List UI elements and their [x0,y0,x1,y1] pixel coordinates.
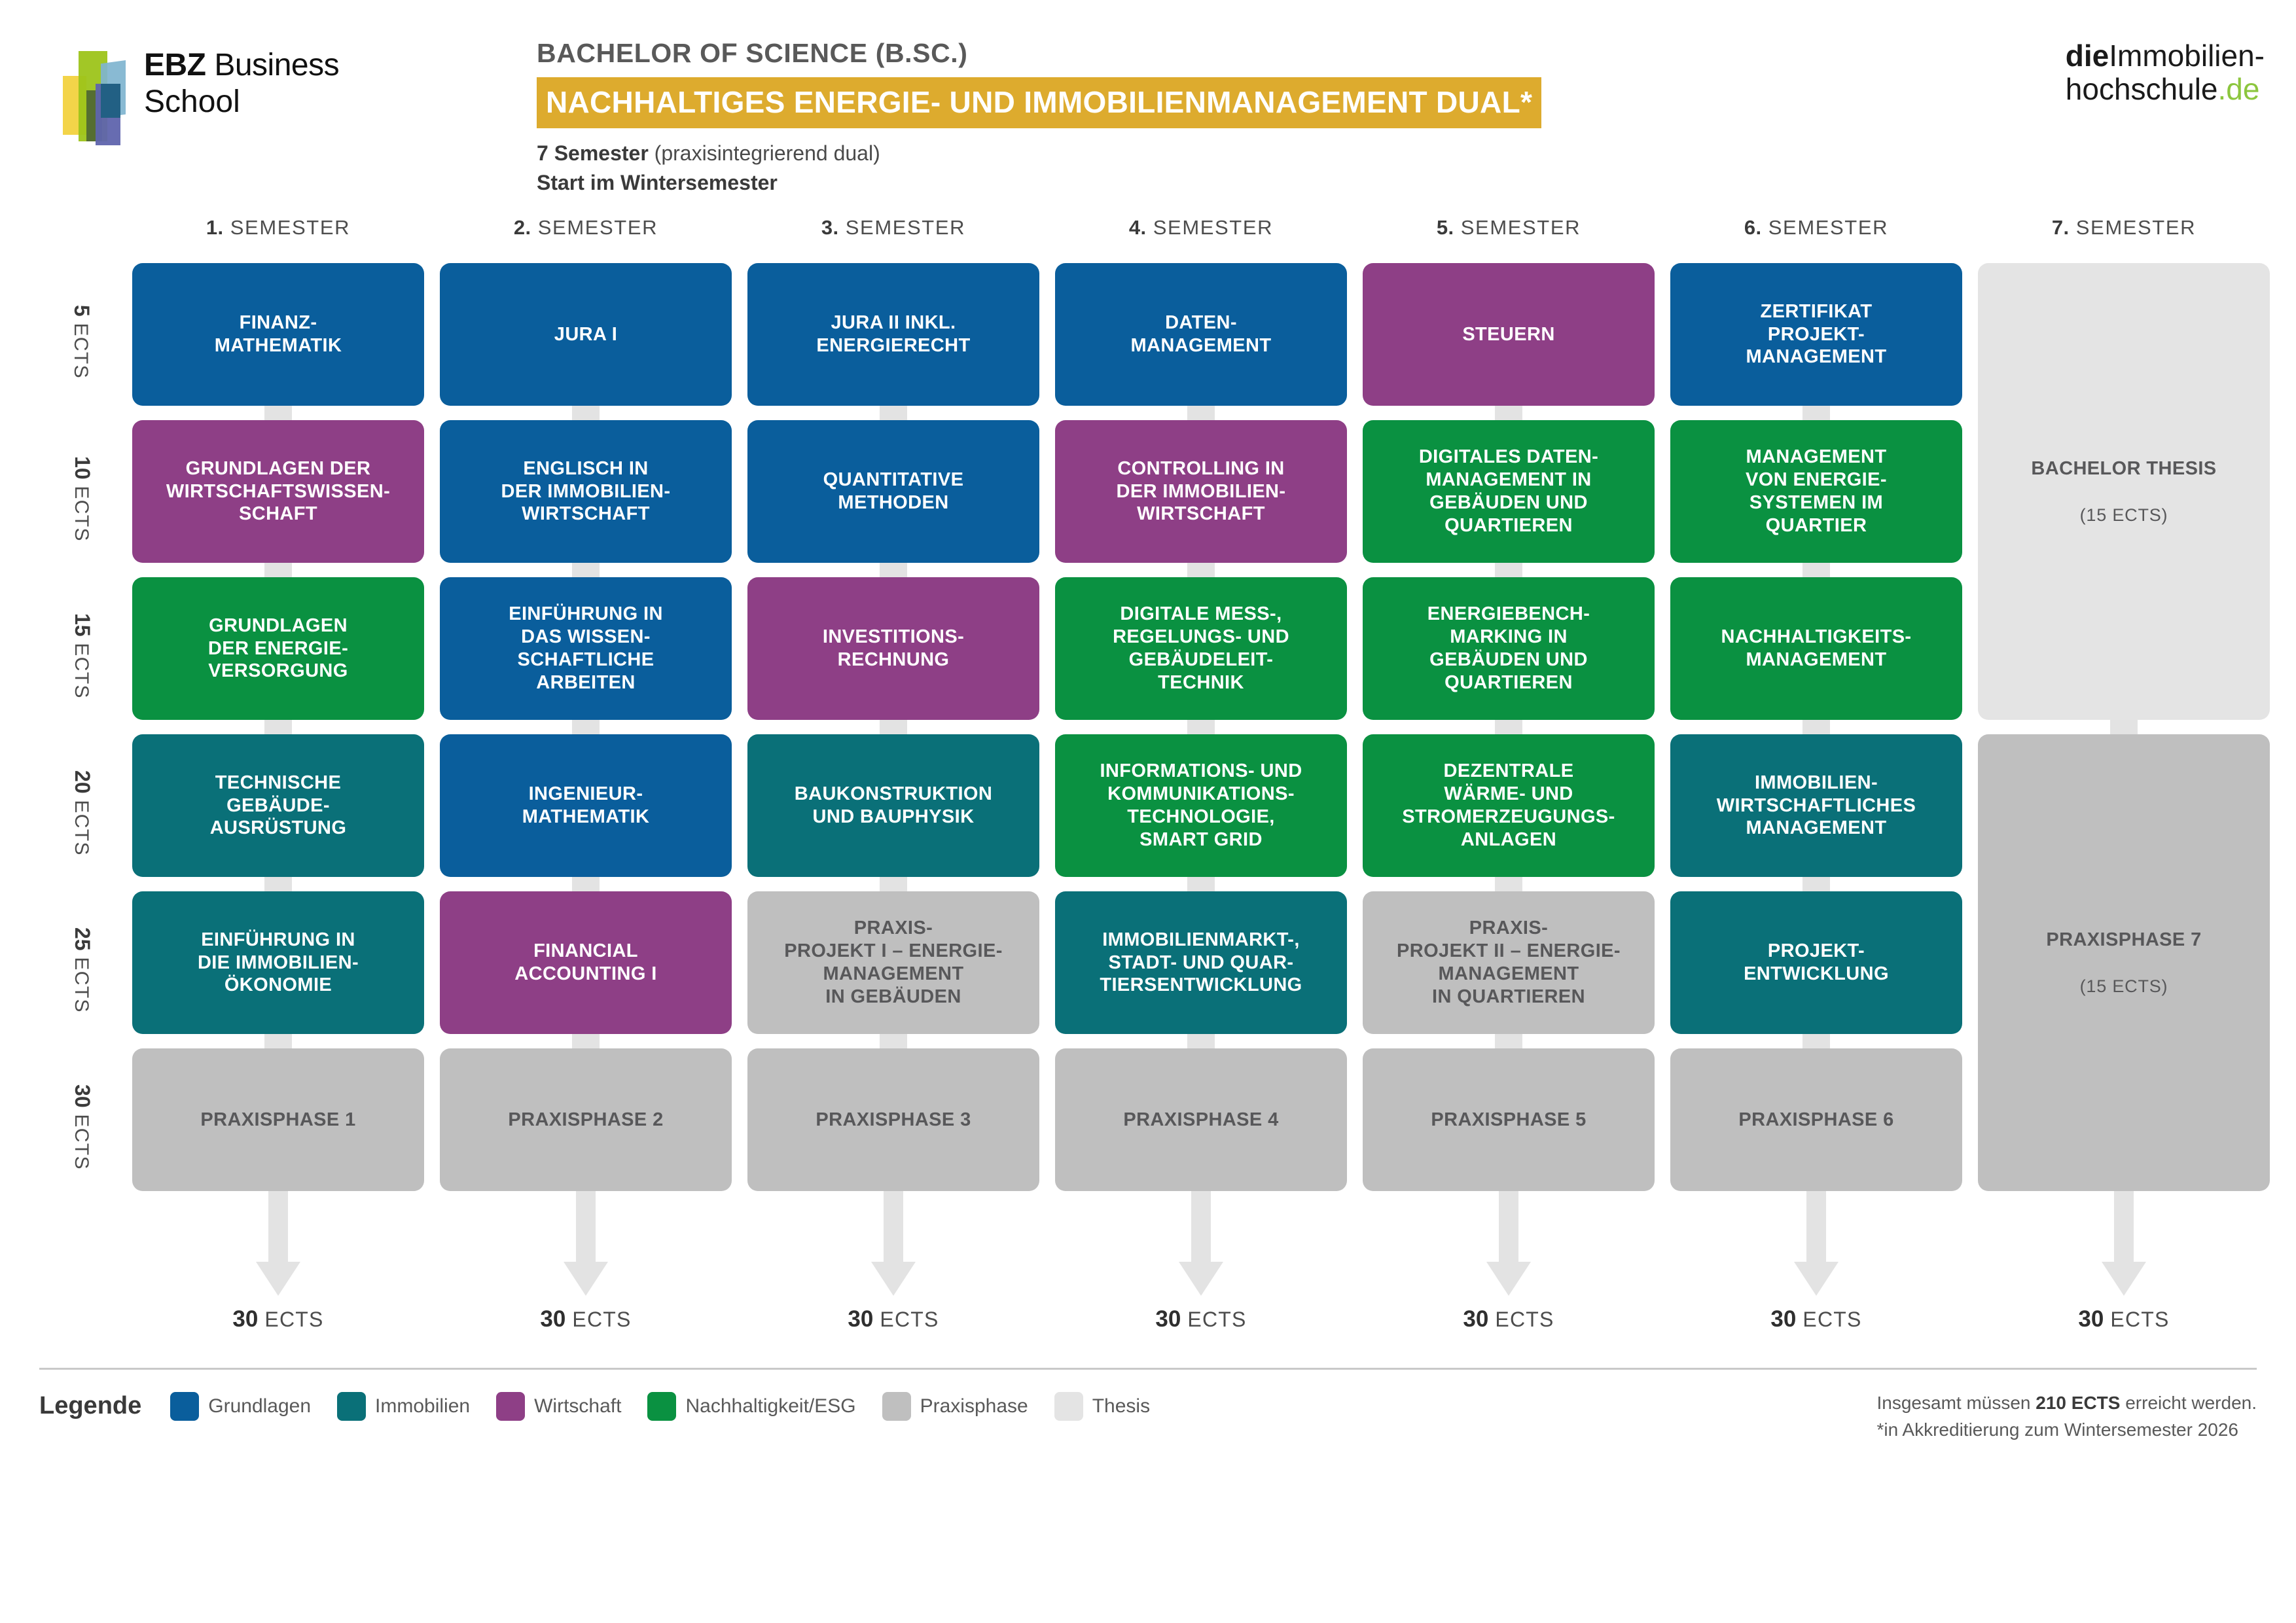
semester-number: 7. [2052,216,2070,239]
module-label: MANAGEMENT VON ENERGIE- SYSTEMEN IM QUAR… [1746,446,1887,537]
ects-tick-label: 25 ECTS [70,927,94,1013]
legend-item-nachhaltigkeit: Nachhaltigkeit/ESG [647,1392,855,1421]
module-label: ENERGIEBENCH- MARKING IN GEBÄUDEN UND QU… [1427,603,1590,694]
duration-mode: (praxisintegrierend dual) [649,141,880,165]
module-box[interactable]: BAUKONSTRUKTION UND BAUPHYSIK [747,734,1039,877]
module-box[interactable]: GRUNDLAGEN DER ENERGIE- VERSORGUNG [132,577,424,720]
module-box[interactable]: BACHELOR THESIS(15 ECTS) [1978,263,2270,720]
semester-header-5: 5. SEMESTER [1363,216,1655,263]
semester-column-5: STEUERNDIGITALES DATEN- MANAGEMENT IN GE… [1363,263,1655,1330]
semester-total-ects: 30 ECTS [1670,1306,1962,1332]
ebz-business-school-logo: EBZ Business School [58,47,339,139]
legend-label: Immobilien [375,1395,470,1418]
ects-tick-5: 5 ECTS [39,263,124,420]
module-label: JURA I [554,323,617,346]
ects-tick-label: 15 ECTS [70,613,94,699]
down-arrow-icon [1499,1186,1518,1263]
down-arrow-icon [268,1186,288,1263]
semester-column-4: DATEN- MANAGEMENTCONTROLLING IN DER IMMO… [1055,263,1347,1330]
ects-axis: 5 ECTS10 ECTS15 ECTS20 ECTS25 ECTS30 ECT… [39,263,124,1179]
module-box[interactable]: DATEN- MANAGEMENT [1055,263,1347,406]
module-label: PRAXISPHASE 3 [816,1109,971,1132]
module-label: PRAXISPHASE 6 [1738,1109,1893,1132]
module-box[interactable]: EINFÜHRUNG IN DAS WISSEN- SCHAFTLICHE AR… [440,577,732,720]
legend-label: Wirtschaft [534,1395,621,1418]
semester-total-arrow-zone: 30 ECTS [132,1191,424,1315]
program-details: 7 Semester (praxisintegrierend dual) Sta… [537,139,1541,198]
module-box[interactable]: PRAXISPHASE 3 [747,1048,1039,1191]
semester-number: 1. [206,216,224,239]
note-post: erreicht werden. [2120,1393,2257,1413]
semester-header-row: 1. SEMESTER2. SEMESTER3. SEMESTER4. SEME… [39,216,2278,263]
semester-header-4: 4. SEMESTER [1055,216,1347,263]
module-box[interactable]: PROJEKT- ENTWICKLUNG [1670,891,1962,1034]
module-label: EINFÜHRUNG IN DIE IMMOBILIEN- ÖKONOMIE [198,929,359,997]
module-label: TECHNISCHE GEBÄUDE- AUSRÜSTUNG [210,772,347,840]
module-label: IMMOBILIENMARKT-, STADT- UND QUAR- TIERS… [1100,929,1302,997]
module-box[interactable]: IMMOBILIEN- WIRTSCHAFTLICHES MANAGEMENT [1670,734,1962,877]
module-box[interactable]: DIGITALE MESS-, REGELUNGS- UND GEBÄUDELE… [1055,577,1347,720]
module-label: FINANZ- MATHEMATIK [215,312,342,357]
module-box[interactable]: QUANTITATIVE METHODEN [747,420,1039,563]
module-box[interactable]: FINANCIAL ACCOUNTING I [440,891,732,1034]
legend-item-immobilien: Immobilien [337,1392,470,1421]
module-label: PRAXISPHASE 4 [1123,1109,1278,1132]
module-box[interactable]: PRAXIS- PROJEKT I – ENERGIE- MANAGEMENT … [747,891,1039,1034]
legend-swatch-grundlagen [170,1392,199,1421]
module-box[interactable]: PRAXISPHASE 7(15 ECTS) [1978,734,2270,1191]
semester-column-2: JURA IENGLISCH IN DER IMMOBILIEN- WIRTSC… [440,263,732,1330]
note-accreditation: *in Akkreditierung zum Wintersemester 20… [1877,1416,2257,1443]
module-box[interactable]: PRAXISPHASE 6 [1670,1048,1962,1191]
module-label: JURA II INKL. ENERGIERECHT [816,312,970,357]
legend-label: Praxisphase [920,1395,1028,1418]
module-label: PRAXISPHASE 1 [200,1109,355,1132]
semester-column-3: JURA II INKL. ENERGIERECHTQUANTITATIVE M… [747,263,1039,1330]
legend-label: Thesis [1092,1395,1150,1418]
module-box[interactable]: GRUNDLAGEN DER WIRTSCHAFTSWISSEN- SCHAFT [132,420,424,563]
module-label: STEUERN [1462,323,1554,346]
module-box[interactable]: DEZENTRALE WÄRME- UND STROMERZEUGUNGS- A… [1363,734,1655,877]
semester-number: 4. [1129,216,1147,239]
semester-total-ects: 30 ECTS [1363,1306,1655,1332]
brand-immobilien: Immobilien- [2109,39,2265,73]
module-box[interactable]: EINFÜHRUNG IN DIE IMMOBILIEN- ÖKONOMIE [132,891,424,1034]
legend-item-wirtschaft: Wirtschaft [496,1392,621,1421]
ects-tick-25: 25 ECTS [39,891,124,1048]
module-label: GRUNDLAGEN DER WIRTSCHAFTSWISSEN- SCHAFT [166,457,390,526]
program-title: NACHHALTIGES ENERGIE- UND IMMOBILIENMANA… [537,77,1541,128]
semester-column-6: ZERTIFIKAT PROJEKT- MANAGEMENTMANAGEMENT… [1670,263,1962,1330]
semester-total-arrow-zone: 30 ECTS [1363,1191,1655,1315]
module-ects-sub: (15 ECTS) [2080,976,2168,997]
module-label: EINFÜHRUNG IN DAS WISSEN- SCHAFTLICHE AR… [509,603,663,694]
logo-business: Business [214,48,339,82]
semester-column-7: BACHELOR THESIS(15 ECTS)PRAXISPHASE 7(15… [1978,263,2270,1330]
legend-swatch-nachhaltigkeit [647,1392,676,1421]
title-block: BACHELOR OF SCIENCE (B.SC.) NACHHALTIGES… [537,38,1541,198]
legend-label: Grundlagen [208,1395,311,1418]
degree-kicker: BACHELOR OF SCIENCE (B.SC.) [537,38,1541,69]
semester-header-7: 7. SEMESTER [1978,216,2270,263]
module-label: PROJEKT- ENTWICKLUNG [1744,940,1889,986]
semester-column-1: FINANZ- MATHEMATIKGRUNDLAGEN DER WIRTSCH… [132,263,424,1330]
module-box[interactable]: JURA I [440,263,732,406]
down-arrow-icon [1191,1186,1211,1263]
duration-value: 7 Semester [537,141,649,165]
semester-total-arrow-zone: 30 ECTS [1670,1191,1962,1315]
semester-total-arrow-zone: 30 ECTS [440,1191,732,1315]
module-box[interactable]: IMMOBILIENMARKT-, STADT- UND QUAR- TIERS… [1055,891,1347,1034]
module-box[interactable]: ZERTIFIKAT PROJEKT- MANAGEMENT [1670,263,1962,406]
semester-header-2: 2. SEMESTER [440,216,732,263]
module-label: PRAXISPHASE 2 [508,1109,663,1132]
module-box[interactable]: PRAXISPHASE 5 [1363,1048,1655,1191]
down-arrow-icon [1806,1186,1826,1263]
semester-number: 6. [1744,216,1762,239]
ects-tick-20: 20 ECTS [39,734,124,891]
module-ects-sub: (15 ECTS) [2080,505,2168,526]
module-box[interactable]: STEUERN [1363,263,1655,406]
module-box[interactable]: JURA II INKL. ENERGIERECHT [747,263,1039,406]
brand-die: die [2066,39,2109,73]
semester-total-arrow-zone: 30 ECTS [747,1191,1039,1315]
ects-tick-label: 20 ECTS [70,770,94,856]
semester-total-ects: 30 ECTS [747,1306,1039,1332]
module-label: DIGITALES DATEN- MANAGEMENT IN GEBÄUDEN … [1419,446,1598,537]
module-box[interactable]: INFORMATIONS- UND KOMMUNIKATIONS- TECHNO… [1055,734,1347,877]
module-label: BACHELOR THESIS [2031,457,2216,480]
ects-tick-label: 5 ECTS [70,304,94,378]
logo-ebz: EBZ [144,48,206,82]
module-box[interactable]: TECHNISCHE GEBÄUDE- AUSRÜSTUNG [132,734,424,877]
module-label: PRAXISPHASE 5 [1431,1109,1586,1132]
semester-number: 5. [1437,216,1454,239]
immobilienhochschule-logo: dieImmobilien- hochschule.de [2066,41,2265,105]
module-box[interactable]: DIGITALES DATEN- MANAGEMENT IN GEBÄUDEN … [1363,420,1655,563]
module-label: DATEN- MANAGEMENT [1130,312,1271,357]
module-box[interactable]: ENGLISCH IN DER IMMOBILIEN- WIRTSCHAFT [440,420,732,563]
legend-label: Nachhaltigkeit/ESG [685,1395,855,1418]
semester-grid: 5 ECTS10 ECTS15 ECTS20 ECTS25 ECTS30 ECT… [39,263,2278,1330]
down-arrow-icon [2114,1186,2134,1263]
module-label: PRAXIS- PROJEKT I – ENERGIE- MANAGEMENT … [784,917,1003,1008]
module-label: BAUKONSTRUKTION UND BAUPHYSIK [795,783,992,829]
module-label: NACHHALTIGKEITS- MANAGEMENT [1721,626,1911,671]
legend-title: Legende [39,1392,141,1420]
legend-swatch-thesis [1054,1392,1083,1421]
semester-total-ects: 30 ECTS [1055,1306,1347,1332]
module-label: FINANCIAL ACCOUNTING I [514,940,656,986]
down-arrow-icon [884,1186,903,1263]
ects-tick-label: 30 ECTS [70,1084,94,1170]
semester-total-arrow-zone: 30 ECTS [1055,1191,1347,1315]
curriculum-chart: 1. SEMESTER2. SEMESTER3. SEMESTER4. SEME… [39,216,2278,1330]
module-label: DEZENTRALE WÄRME- UND STROMERZEUGUNGS- A… [1402,760,1615,851]
module-box[interactable]: PRAXIS- PROJEKT II – ENERGIE- MANAGEMENT… [1363,891,1655,1034]
semester-header-1: 1. SEMESTER [132,216,424,263]
start-term: Start im Wintersemester [537,171,778,194]
module-label: IMMOBILIEN- WIRTSCHAFTLICHES MANAGEMENT [1717,772,1916,840]
module-box[interactable]: NACHHALTIGKEITS- MANAGEMENT [1670,577,1962,720]
note-pre: Insgesamt müssen [1877,1393,2036,1413]
logo-school: School [144,86,339,118]
module-label: INFORMATIONS- UND KOMMUNIKATIONS- TECHNO… [1100,760,1302,851]
legend-item-grundlagen: Grundlagen [170,1392,311,1421]
down-arrow-icon [576,1186,596,1263]
ects-tick-label: 10 ECTS [70,456,94,542]
brand-hochschule: hochschule [2066,72,2218,106]
module-box[interactable]: PRAXISPHASE 1 [132,1048,424,1191]
module-label: QUANTITATIVE METHODEN [823,469,964,514]
note-total-ects: 210 ECTS [2036,1393,2120,1413]
module-box[interactable]: CONTROLLING IN DER IMMOBILIEN- WIRTSCHAF… [1055,420,1347,563]
module-box[interactable]: MANAGEMENT VON ENERGIE- SYSTEMEN IM QUAR… [1670,420,1962,563]
ects-tick-15: 15 ECTS [39,577,124,734]
module-label: PRAXIS- PROJEKT II – ENERGIE- MANAGEMENT… [1397,917,1621,1008]
semester-total-ects: 30 ECTS [132,1306,424,1332]
module-box[interactable]: INVESTITIONS- RECHNUNG [747,577,1039,720]
module-label: CONTROLLING IN DER IMMOBILIEN- WIRTSCHAF… [1117,457,1286,526]
brand-tld: .de [2218,72,2260,106]
module-box[interactable]: PRAXISPHASE 2 [440,1048,732,1191]
semester-total-ects: 30 ECTS [1978,1306,2270,1332]
ebz-logo-mark-icon [58,47,135,139]
module-box[interactable]: FINANZ- MATHEMATIK [132,263,424,406]
semester-header-6: 6. SEMESTER [1670,216,1962,263]
legend-swatch-praxisphase [882,1392,911,1421]
module-label: INGENIEUR- MATHEMATIK [522,783,650,829]
module-label: ENGLISCH IN DER IMMOBILIEN- WIRTSCHAFT [501,457,671,526]
module-label: INVESTITIONS- RECHNUNG [823,626,964,671]
semester-total-ects: 30 ECTS [440,1306,732,1332]
module-box[interactable]: PRAXISPHASE 4 [1055,1048,1347,1191]
module-box[interactable]: ENERGIEBENCH- MARKING IN GEBÄUDEN UND QU… [1363,577,1655,720]
ects-tick-10: 10 ECTS [39,420,124,577]
semester-total-arrow-zone: 30 ECTS [1978,1191,2270,1315]
module-label: PRAXISPHASE 7 [2046,929,2201,952]
semester-header-3: 3. SEMESTER [747,216,1039,263]
module-label: GRUNDLAGEN DER ENERGIE- VERSORGUNG [208,615,348,683]
ects-tick-30: 30 ECTS [39,1048,124,1205]
module-label: DIGITALE MESS-, REGELUNGS- UND GEBÄUDELE… [1113,603,1289,694]
legend-swatch-wirtschaft [496,1392,525,1421]
semester-number: 2. [514,216,531,239]
legend: Legende GrundlagenImmobilienWirtschaftNa… [0,1370,2296,1421]
module-label: ZERTIFIKAT PROJEKT- MANAGEMENT [1746,300,1886,368]
legend-items: GrundlagenImmobilienWirtschaftNachhaltig… [170,1392,1150,1421]
legend-item-praxisphase: Praxisphase [882,1392,1028,1421]
page-header: EBZ Business School BACHELOR OF SCIENCE … [0,0,2296,216]
legend-note: Insgesamt müssen 210 ECTS erreicht werde… [1877,1389,2257,1444]
semester-number: 3. [821,216,839,239]
legend-swatch-immobilien [337,1392,366,1421]
legend-item-thesis: Thesis [1054,1392,1150,1421]
module-box[interactable]: INGENIEUR- MATHEMATIK [440,734,732,877]
